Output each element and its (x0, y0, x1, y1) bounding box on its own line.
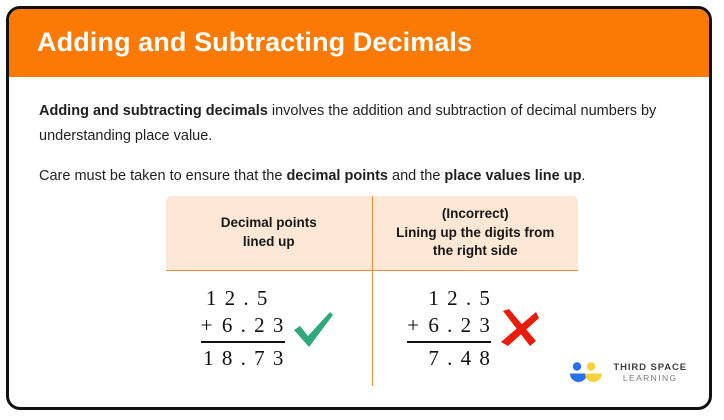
lesson-body: Adding and subtracting decimals involves… (9, 77, 709, 189)
red-cross-icon (495, 305, 543, 353)
incorrect-addend-2: 6 . 2 3 (428, 312, 491, 339)
logo-wordmark: THIRD SPACE LEARNING (613, 363, 687, 383)
incorrect-result-row: 7 . 4 8 (407, 341, 491, 372)
intro-paragraph: Adding and subtracting decimals involves… (39, 99, 679, 150)
care-paragraph: Care must be taken to ensure that the de… (39, 164, 679, 189)
correct-result: 1 8 . 7 3 (203, 345, 285, 372)
correct-operator: + (201, 312, 222, 339)
correct-result-row: 1 8 . 7 3 (201, 341, 285, 372)
care-part-3: . (581, 168, 585, 184)
cell-correct-calculation: 1 2 . 5 + 6 . 2 3 1 8 . 7 3 (166, 271, 373, 387)
correct-addend-1-row: 1 2 . 5 (201, 285, 285, 312)
incorrect-column-sum: 1 2 . 5 + 6 . 2 3 7 . 4 8 (407, 285, 491, 372)
logo-line-2: LEARNING (613, 374, 687, 384)
header-line-correct: Decimal points lined up (221, 215, 317, 249)
table-body-row: 1 2 . 5 + 6 . 2 3 1 8 . 7 3 (166, 271, 579, 387)
cell-incorrect-calculation: 1 2 . 5 + 6 . 2 3 7 . 4 8 (372, 271, 579, 387)
logo-yellow-dot (587, 362, 595, 370)
header-line-incorrect: (Incorrect) Lining up the digits from th… (396, 206, 554, 258)
green-check-icon (289, 305, 337, 353)
lesson-card: Adding and Subtracting Decimals Adding a… (6, 6, 712, 410)
header-decimal-points-lined-up: Decimal points lined up (166, 196, 373, 271)
third-space-logo-mark (567, 361, 605, 385)
incorrect-cell-inner: 1 2 . 5 + 6 . 2 3 7 . 4 8 (373, 271, 579, 386)
logo-blue-bowl (570, 374, 587, 383)
correct-addend-1: 1 2 . 5 (206, 285, 269, 312)
intro-bold-lead: Adding and subtracting decimals (39, 103, 268, 119)
logo-yellow-bowl (585, 374, 602, 383)
incorrect-addend-2-row: + 6 . 2 3 (407, 312, 491, 339)
correct-cell-inner: 1 2 . 5 + 6 . 2 3 1 8 . 7 3 (166, 271, 372, 386)
third-space-learning-logo: THIRD SPACE LEARNING (567, 361, 687, 385)
incorrect-addend-1-row: 1 2 . 5 (407, 285, 491, 312)
care-bold-place-values: place values line up (444, 168, 581, 184)
incorrect-result: 7 . 4 8 (428, 345, 491, 372)
comparison-table-wrapper: Decimal points lined up (Incorrect) Lini… (165, 195, 579, 387)
page-title: Adding and Subtracting Decimals (37, 28, 472, 58)
correct-addend-2-row: + 6 . 2 3 (201, 312, 285, 339)
logo-blue-dot (573, 362, 581, 370)
incorrect-operator: + (407, 312, 428, 339)
care-part-2: and the (388, 168, 444, 184)
care-part-1: Care must be taken to ensure that the (39, 168, 286, 184)
correct-column-sum: 1 2 . 5 + 6 . 2 3 1 8 . 7 3 (201, 285, 285, 372)
page-header: Adding and Subtracting Decimals (9, 9, 709, 77)
header-incorrect-right-side: (Incorrect) Lining up the digits from th… (372, 196, 579, 271)
table-header-row: Decimal points lined up (Incorrect) Lini… (166, 196, 579, 271)
comparison-table: Decimal points lined up (Incorrect) Lini… (165, 195, 579, 387)
care-bold-decimal-points: decimal points (286, 168, 388, 184)
logo-line-1: THIRD SPACE (613, 363, 687, 374)
correct-addend-2: 6 . 2 3 (222, 312, 285, 339)
incorrect-addend-1: 1 2 . 5 (428, 285, 491, 312)
